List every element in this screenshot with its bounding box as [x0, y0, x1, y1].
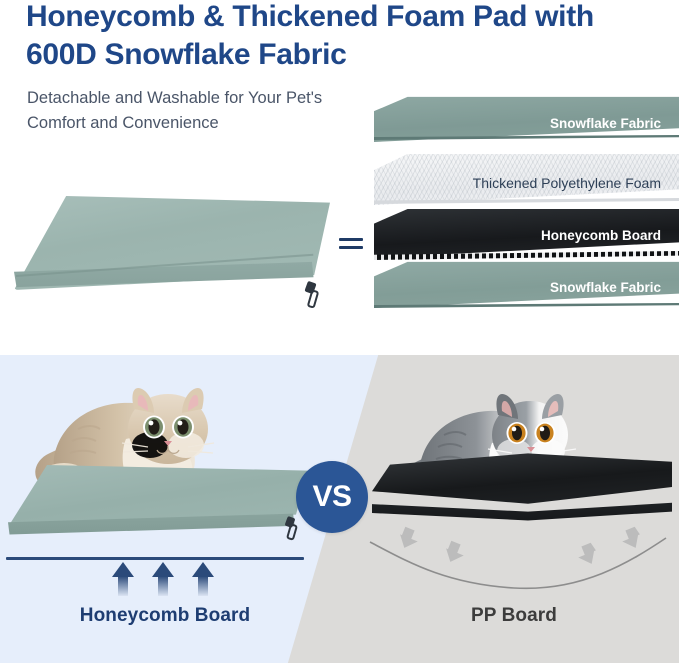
layer-label: Honeycomb Board: [541, 228, 661, 243]
downward-pressure-arrows: [368, 525, 668, 575]
equals-icon: [339, 238, 363, 252]
layer-label: Thickened Polyethylene Foam: [473, 175, 661, 191]
page-subtitle: Detachable and Washable for Your Pet's C…: [27, 86, 367, 136]
flat-support-line: [6, 557, 304, 560]
honeycomb-pad-illustration: [8, 465, 308, 543]
layer-label: Snowflake Fabric: [550, 280, 661, 295]
layer-label: Snowflake Fabric: [550, 116, 661, 131]
layer-snowflake-fabric-bottom: Snowflake Fabric: [374, 260, 679, 308]
down-arrow-icon: [616, 524, 645, 554]
up-arrow-icon: [190, 562, 216, 596]
down-arrow-icon: [440, 538, 469, 568]
layer-honeycomb-board: Honeycomb Board: [374, 208, 679, 260]
assembled-pad-illustration: [14, 196, 330, 306]
layer-snowflake-fabric-top: Snowflake Fabric: [374, 96, 679, 142]
vs-badge: VS: [296, 461, 368, 533]
up-arrow-icon: [150, 562, 176, 596]
pp-board-label: PP Board: [349, 605, 679, 627]
vs-label: VS: [312, 482, 351, 512]
down-arrow-icon: [572, 540, 601, 570]
layer-polyethylene-foam: Thickened Polyethylene Foam: [374, 153, 679, 205]
product-construction-section: Honeycomb & Thickened Foam Pad with 600D…: [0, 0, 679, 355]
down-arrow-icon: [394, 524, 423, 554]
zipper-icon: [284, 517, 302, 537]
upward-support-arrows: [110, 562, 216, 596]
up-arrow-icon: [110, 562, 136, 596]
page-title: Honeycomb & Thickened Foam Pad with 600D…: [26, 0, 666, 74]
zipper-icon: [304, 282, 324, 304]
exploded-layer-diagram: Snowflake Fabric Thickened Polyethylene …: [374, 96, 679, 308]
honeycomb-board-label: Honeycomb Board: [0, 605, 330, 627]
